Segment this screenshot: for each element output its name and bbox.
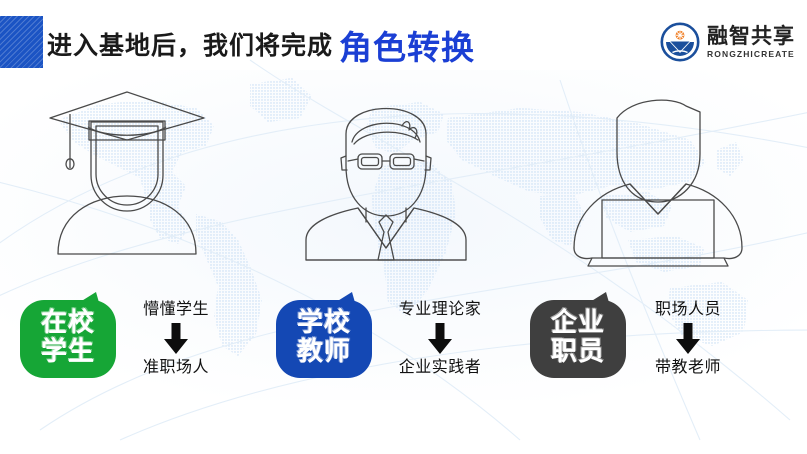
down-arrow-icon — [163, 323, 189, 355]
office-worker-figure — [562, 92, 752, 275]
transition-teacher: 专业理论家 企业实践者 — [374, 300, 506, 377]
header-accent-block — [0, 16, 43, 68]
rongzhi-emblem-icon — [660, 22, 700, 62]
person-with-laptop-icon — [562, 92, 752, 270]
badge-student[interactable]: 在校 学生 — [18, 292, 118, 380]
transition-teacher-from: 专业理论家 — [374, 300, 506, 319]
badge-student-shape — [18, 292, 118, 380]
down-arrow-icon — [427, 323, 453, 355]
brand-logo: 融智共享 RONGZHICREATE — [660, 22, 795, 62]
page-title-highlight: 角色转换 — [339, 31, 475, 64]
brand-name-en: RONGZHICREATE — [707, 50, 795, 59]
badge-worker-shape — [528, 292, 628, 380]
teacher-figure — [296, 82, 476, 267]
page-title: 进入基地后，我们将完成 角色转换 — [47, 22, 475, 70]
badge-worker[interactable]: 企业 职员 — [528, 292, 628, 380]
badge-teacher-shape — [274, 292, 374, 380]
slide-canvas: 进入基地后，我们将完成 角色转换 融智共享 RONGZHICREATE — [0, 0, 807, 454]
transition-worker-from: 职场人员 — [622, 300, 754, 319]
badge-teacher[interactable]: 学校 教师 — [274, 292, 374, 380]
person-with-glasses-suit-icon — [296, 82, 476, 262]
transition-student: 懵懂学生 准职场人 — [110, 300, 242, 377]
brand-name-cn: 融智共享 — [707, 26, 795, 47]
graduate-cap-person-icon — [42, 82, 212, 262]
transition-worker-to: 带教老师 — [622, 358, 754, 377]
page-title-prefix: 进入基地后，我们将完成 — [47, 34, 333, 59]
down-arrow-icon — [675, 323, 701, 355]
graduate-student-figure — [42, 82, 212, 267]
transition-student-from: 懵懂学生 — [110, 300, 242, 319]
transition-teacher-to: 企业实践者 — [374, 358, 506, 377]
transition-worker: 职场人员 带教老师 — [622, 300, 754, 377]
brand-logo-text: 融智共享 RONGZHICREATE — [707, 26, 795, 59]
slide-header: 进入基地后，我们将完成 角色转换 融智共享 RONGZHICREATE — [0, 0, 807, 86]
transition-student-to: 准职场人 — [110, 358, 242, 377]
